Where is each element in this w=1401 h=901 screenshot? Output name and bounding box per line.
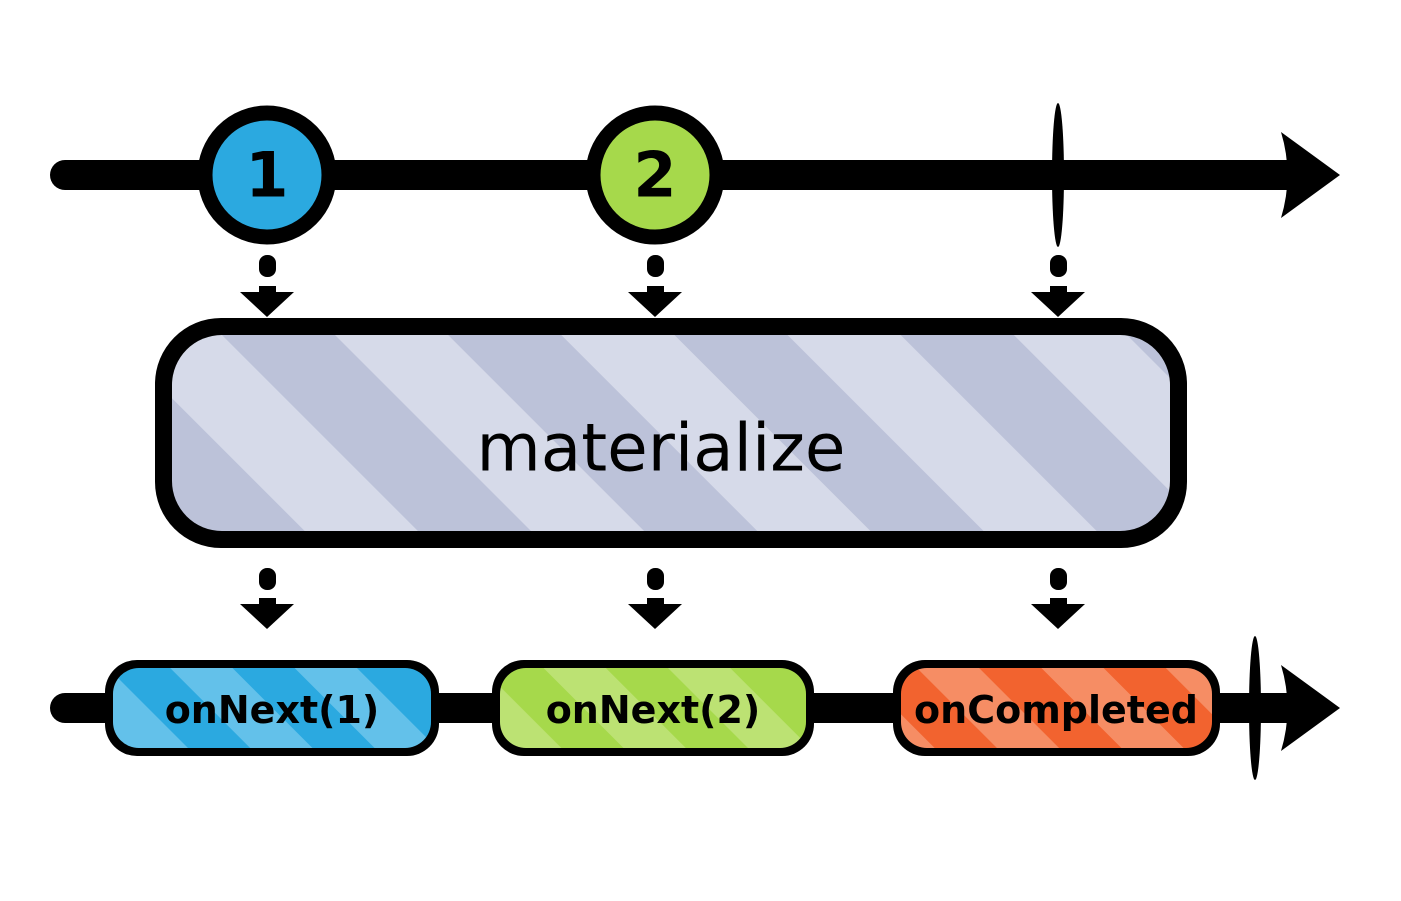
source-observable-timeline: 1 2	[65, 103, 1340, 247]
output-arrow-2	[628, 568, 682, 629]
notification-on-next-2[interactable]: onNext(2)	[492, 660, 814, 756]
output-arrow-1	[240, 568, 294, 629]
source-marble-1-label: 1	[245, 139, 288, 212]
source-completion-bar	[1052, 103, 1064, 247]
input-arrow-1	[240, 255, 294, 317]
input-arrow-complete	[1031, 255, 1085, 317]
result-timeline-arrowhead	[1281, 665, 1340, 751]
notification-on-next-2-label: onNext(2)	[546, 688, 761, 732]
result-completion-bar	[1249, 636, 1261, 780]
notification-on-next-1-label: onNext(1)	[165, 688, 380, 732]
notification-on-completed[interactable]: onCompleted	[893, 660, 1220, 756]
source-marble-2-label: 2	[633, 139, 676, 212]
marble-diagram: 1 2	[0, 0, 1401, 901]
source-marble-2[interactable]: 2	[593, 113, 717, 237]
input-arrow-2	[628, 255, 682, 317]
result-observable-timeline: onNext(1) onNext(2) onCompleted	[65, 636, 1340, 780]
materialize-operator[interactable]: materialize	[155, 318, 1187, 548]
notification-on-completed-label: onCompleted	[914, 688, 1198, 732]
notification-on-next-1[interactable]: onNext(1)	[105, 660, 439, 756]
marble-diagram-canvas: 1 2	[0, 0, 1401, 901]
source-marble-1[interactable]: 1	[205, 113, 329, 237]
input-arrows-group	[240, 255, 1085, 317]
materialize-operator-label: materialize	[476, 410, 845, 487]
output-arrow-complete	[1031, 568, 1085, 629]
source-timeline-arrowhead	[1281, 132, 1340, 218]
output-arrows-group	[240, 568, 1085, 629]
